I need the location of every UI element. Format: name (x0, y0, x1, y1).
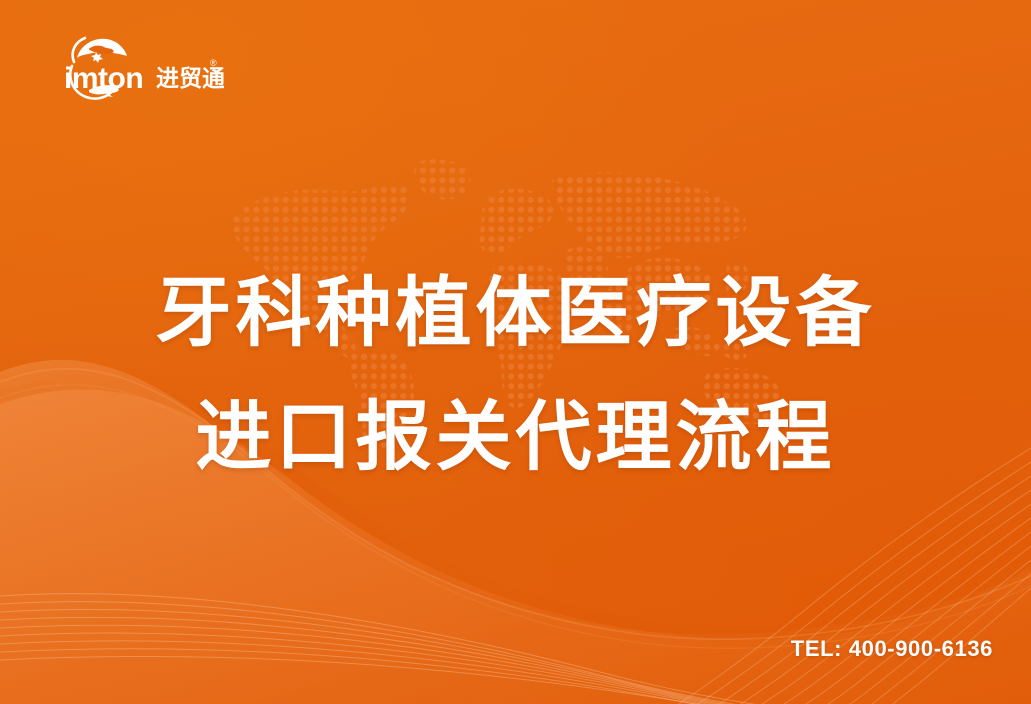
promotional-banner: imton 进贸通 ® 牙科种植体医疗设备 进口报关代理流程 TEL: 400-… (0, 0, 1031, 704)
headline-block: 牙科种植体医疗设备 进口报关代理流程 (0, 252, 1031, 500)
headline-line-2: 进口报关代理流程 (0, 376, 1031, 500)
logo-trademark-symbol: ® (210, 58, 217, 68)
headline-line-1: 牙科种植体医疗设备 (0, 252, 1031, 376)
telephone-text: TEL: 400-900-6136 (791, 636, 993, 662)
brand-logo[interactable]: imton 进贸通 ® (44, 32, 224, 104)
logo-latin-text: imton (64, 62, 143, 95)
logo-chinese-text: 进贸通 (156, 65, 224, 91)
